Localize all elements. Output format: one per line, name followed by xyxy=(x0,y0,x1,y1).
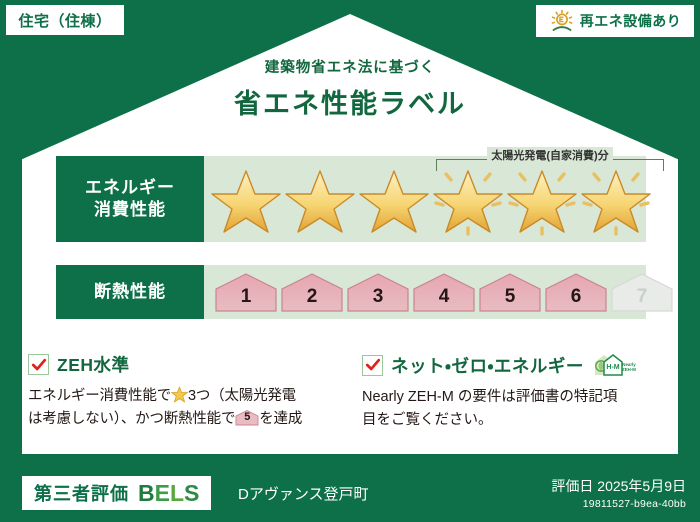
zeh-standard-heading: ZEH水準 xyxy=(28,352,328,377)
insulation-performance-row: 断熱性能 1 2 3 4 xyxy=(55,264,647,320)
solar-annotation: 太陽光発電(自家消費)分 xyxy=(436,146,664,164)
solar-annotation-label: 太陽光発電(自家消費)分 xyxy=(487,147,612,163)
sun-renewable-icon xyxy=(549,9,575,33)
insulation-performance-body: 1 2 3 4 5 xyxy=(204,265,674,319)
bels-letter-s: S xyxy=(184,480,199,506)
insulation-level-number: 7 xyxy=(637,286,648,313)
insulation-performance-label: 断熱性能 xyxy=(56,265,204,319)
energy-performance-row: エネルギー 消費性能 太陽光発電(自家消費)分 xyxy=(55,155,647,243)
net-zero-energy-heading: ネット・ゼロ・エネルギー H-M Nearly ZEH-M xyxy=(362,352,662,378)
insulation-level-number: 3 xyxy=(373,286,384,313)
star-icon-solar xyxy=(580,162,652,236)
insulation-level-number: 1 xyxy=(241,286,252,313)
dwelling-type-label: 住宅（住棟） xyxy=(18,10,111,31)
star-icon xyxy=(358,162,430,236)
evaluation-id: 19811527-b9ea-40bb xyxy=(551,498,686,510)
insulation-label-text: 断熱性能 xyxy=(94,281,166,303)
zeh-desc-part2: は考慮しない）、かつ断熱性能で xyxy=(28,411,235,427)
star-icon xyxy=(284,162,356,236)
insulation-level-number: 5 xyxy=(505,286,516,313)
page-title: 省エネ性能ラベル xyxy=(0,82,700,121)
dwelling-type-tag: 住宅（住棟） xyxy=(6,5,124,35)
bels-wordmark: BELS xyxy=(138,480,199,507)
insulation-level-house: 4 xyxy=(412,271,476,313)
renewable-equipment-label: 再エネ設備あり xyxy=(580,11,682,31)
star-icon-solar xyxy=(432,162,504,236)
net-zero-energy-description: Nearly ZEH-M の要件は評価書の特記項 目をご覧ください。 xyxy=(362,386,662,433)
bels-letter-b: B xyxy=(138,480,155,506)
insulation-level-number: 6 xyxy=(571,286,582,313)
renewable-equipment-tag: 再エネ設備あり xyxy=(536,5,694,37)
insulation-level-house: 5 xyxy=(478,271,542,313)
insulation-level-house: 1 xyxy=(214,271,278,313)
net-zero-energy-title: ネット・ゼロ・エネルギー xyxy=(391,353,584,378)
building-name: Dアヴァンス登戸町 xyxy=(238,483,369,504)
insulation-level-house-inactive: 7 xyxy=(610,271,674,313)
page-title-block: 建築物省エネ法に基づく 省エネ性能ラベル xyxy=(0,56,700,121)
inline-house-number: 5 xyxy=(235,409,259,427)
zeh-standard-title: ZEH水準 xyxy=(57,352,130,377)
zeh-desc-part1: エネルギー消費性能で xyxy=(28,388,171,404)
insulation-level-number: 2 xyxy=(307,286,318,313)
svg-text:H-M: H-M xyxy=(606,364,619,371)
star-icon xyxy=(210,162,282,236)
bels-letter-l: L xyxy=(170,480,184,506)
nze-desc-line1: Nearly ZEH-M の要件は評価書の特記項 xyxy=(362,389,617,405)
zeh-standard-description: エネルギー消費性能で3つ（太陽光発電は考慮しない）、かつ断熱性能で5を達成 xyxy=(28,385,328,432)
star-icon-inline xyxy=(171,386,188,403)
energy-performance-body: 太陽光発電(自家消費)分 xyxy=(204,156,652,242)
bels-letter-e: E xyxy=(155,480,170,506)
evaluation-meta: 評価日 2025年5月9日 19811527-b9ea-40bb xyxy=(551,476,686,510)
energy-label-line2: 消費性能 xyxy=(94,199,166,221)
insulation-level-icon-inline: 5 xyxy=(235,409,259,426)
check-mark-icon xyxy=(28,354,49,375)
bels-energy-label: ハウスコム 住宅（住棟） 再エネ設備あり xyxy=(0,0,700,522)
nze-desc-line2: 目をご覧ください。 xyxy=(362,412,493,428)
insulation-level-house: 2 xyxy=(280,271,344,313)
zeh-desc-part3: を達成 xyxy=(259,411,302,427)
title-subtitle: 建築物省エネ法に基づく xyxy=(0,56,700,77)
third-party-evaluation-label: 第三者評価 xyxy=(34,480,129,506)
check-mark-icon xyxy=(362,355,383,376)
evaluation-date: 評価日 2025年5月9日 xyxy=(551,476,686,496)
zeh-standard-block: ZEH水準 エネルギー消費性能で3つ（太陽光発電は考慮しない）、かつ断熱性能で5… xyxy=(28,352,328,432)
star-icon-solar xyxy=(506,162,578,236)
svg-text:ZEH-M: ZEH-M xyxy=(622,367,636,372)
insulation-level-scale: 1 2 3 4 5 xyxy=(204,271,674,313)
insulation-level-house: 6 xyxy=(544,271,608,313)
net-zero-energy-block: ネット・ゼロ・エネルギー H-M Nearly ZEH-M Nearly ZEH… xyxy=(362,352,662,433)
energy-star-rating xyxy=(204,162,652,236)
energy-label-line1: エネルギー xyxy=(85,177,175,199)
insulation-level-house: 3 xyxy=(346,271,410,313)
nearly-zeh-m-logo: H-M Nearly ZEH-M xyxy=(592,352,638,378)
insulation-level-number: 4 xyxy=(439,286,450,313)
zeh-desc-star-count: 3つ（太陽光発電 xyxy=(188,388,296,404)
bels-certification-badge: 第三者評価 BELS xyxy=(22,476,211,510)
energy-performance-label: エネルギー 消費性能 xyxy=(56,156,204,242)
